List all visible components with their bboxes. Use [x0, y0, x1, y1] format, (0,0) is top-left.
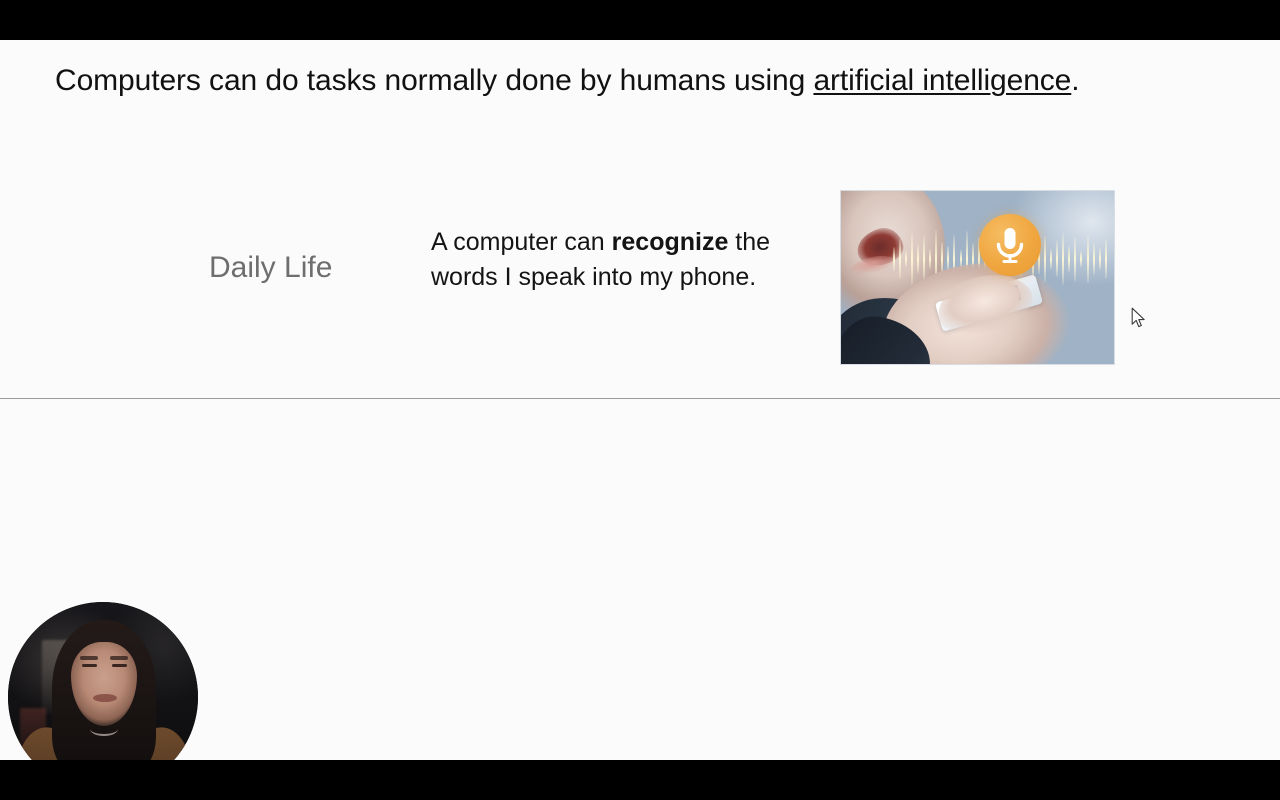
section-divider — [0, 398, 1280, 399]
presenter-mouth — [93, 694, 117, 702]
presenter-brow-right — [110, 656, 128, 660]
heading-text-after: . — [1071, 64, 1079, 97]
slide-illustration — [840, 190, 1115, 365]
presenter-eye-right — [112, 664, 127, 667]
mouse-cursor — [1131, 307, 1147, 329]
letterbox-top — [0, 0, 1280, 40]
body-paragraph: A computer can recognize the words I spe… — [431, 225, 776, 294]
letterbox-bottom — [0, 760, 1280, 800]
presenter-brow-left — [80, 656, 98, 660]
presenter-necklace — [90, 722, 118, 736]
microphone-icon — [979, 214, 1041, 276]
category-label: Daily Life — [209, 248, 332, 288]
heading-underlined-term: artificial intelligence — [813, 64, 1071, 97]
presenter-eye-left — [82, 664, 97, 667]
body-text-part1: A computer can — [431, 228, 612, 256]
heading-text-before: Computers can do tasks normally done by … — [55, 64, 813, 97]
page-title: Computers can do tasks normally done by … — [55, 61, 1235, 101]
screen-recording-frame: Computers can do tasks normally done by … — [0, 0, 1280, 800]
body-emphasis-word: recognize — [612, 228, 729, 256]
